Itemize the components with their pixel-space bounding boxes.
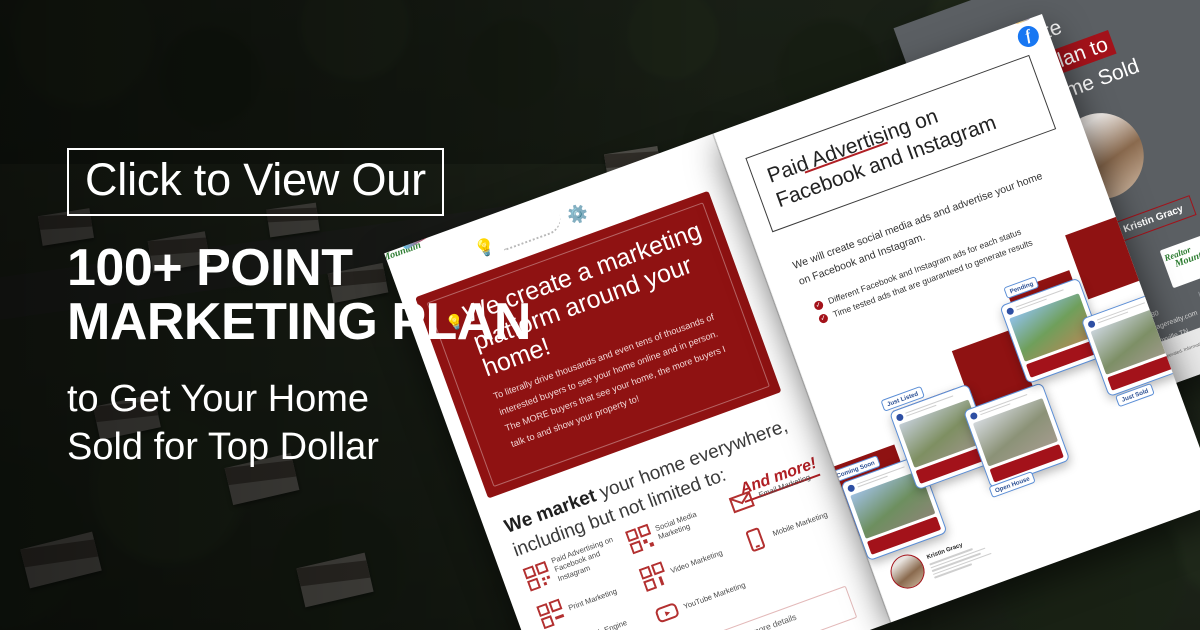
check-bullet-icon: ✓ <box>813 300 825 312</box>
gear-icon: ⚙️ <box>565 202 591 227</box>
click-to-view-button[interactable]: Click to View Our <box>67 148 444 216</box>
cover-brokerage-logo: Realtor Mountain <box>1160 225 1200 288</box>
channel-label: YouTube Marketing <box>682 580 747 611</box>
promo-banner[interactable]: 💡 ⚙️ 💡 We create a marketing platform ar… <box>0 0 1200 630</box>
subheadline-line-1: to Get Your Home <box>67 376 537 422</box>
headline-line-2: MARKETING PLAN <box>67 294 537 350</box>
click-to-view-label: Click to View Our <box>85 156 426 204</box>
avatar <box>895 413 904 422</box>
avatar <box>969 412 978 421</box>
mobile-icon <box>741 525 772 556</box>
ad-card <box>963 382 1070 489</box>
channel-label: Mobile Marketing <box>771 510 829 539</box>
facebook-icon: f <box>1015 23 1042 50</box>
channel-label: Video Marketing <box>669 548 724 576</box>
headline-line-1: 100+ POINT <box>67 240 537 296</box>
qr-print-icon <box>536 599 567 630</box>
qr-social-icon <box>625 524 656 555</box>
youtube-icon <box>651 597 682 628</box>
hero-text-block: Click to View Our 100+ POINT MARKETING P… <box>67 148 537 471</box>
avatar <box>847 484 856 493</box>
qr-ad-icon <box>523 561 554 592</box>
avatar <box>1087 320 1096 329</box>
byline-name: Kristin Gracy <box>1122 203 1185 235</box>
channel-label: Search Engine Marketing <box>578 611 651 630</box>
email-icon <box>727 487 758 518</box>
channel-label: Print Marketing <box>567 586 618 612</box>
avatar <box>1006 307 1015 316</box>
qr-video-icon <box>638 562 669 593</box>
subheadline-line-2: Sold for Top Dollar <box>67 424 537 470</box>
